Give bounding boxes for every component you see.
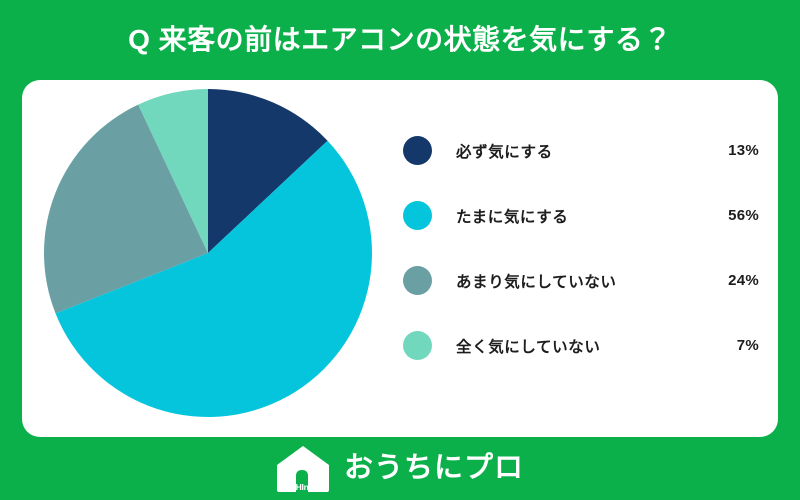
pie-chart	[43, 88, 373, 418]
legend-color-swatch	[403, 201, 432, 230]
page-title: Q 来客の前はエアコンの状態を気にする？	[128, 26, 672, 54]
legend-item-value: 13%	[728, 142, 759, 159]
legend-color-swatch	[403, 136, 432, 165]
legend-item-value: 24%	[728, 272, 759, 289]
content-card: 必ず気にする13%たまに気にする56%あまり気にしていない24%全く気にしていな…	[22, 80, 778, 437]
legend-item-label: たまに気にする	[456, 205, 728, 227]
pie-slice-group	[44, 89, 372, 417]
logo-wordmark: おうちにプロ	[344, 454, 524, 483]
legend-item-value: 7%	[737, 337, 759, 354]
legend-item-label: 必ず気にする	[456, 140, 728, 162]
footer-logo: OUCHIniPRO おうちにプロ	[0, 437, 800, 500]
legend-color-swatch	[403, 266, 432, 295]
chart-legend: 必ず気にする13%たまに気にする56%あまり気にしていない24%全く気にしていな…	[403, 118, 759, 403]
legend-item[interactable]: あまり気にしていない24%	[403, 248, 759, 313]
legend-item-label: 全く気にしていない	[456, 335, 737, 357]
title-bar: Q 来客の前はエアコンの状態を気にする？	[0, 0, 800, 80]
logo-mark-text: OUCHIniPRO	[276, 483, 330, 492]
legend-item-value: 56%	[728, 207, 759, 224]
house-icon: OUCHIniPRO	[276, 445, 330, 493]
legend-color-swatch	[403, 331, 432, 360]
legend-item[interactable]: 必ず気にする13%	[403, 118, 759, 183]
legend-item-label: あまり気にしていない	[456, 270, 728, 292]
infographic-root: Q 来客の前はエアコンの状態を気にする？ 必ず気にする13%たまに気にする56%…	[0, 0, 800, 500]
pie-chart-svg	[43, 88, 373, 418]
legend-item[interactable]: 全く気にしていない7%	[403, 313, 759, 378]
legend-item[interactable]: たまに気にする56%	[403, 183, 759, 248]
